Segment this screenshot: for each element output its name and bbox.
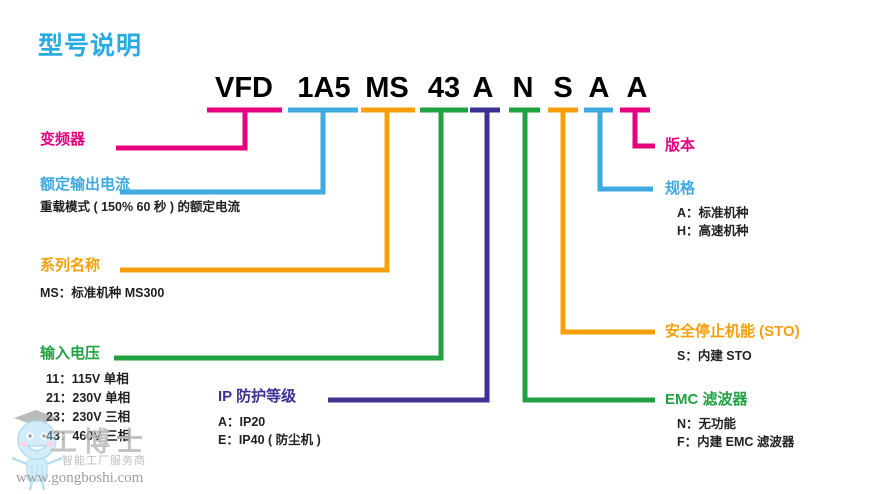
callout-rated-output-current: 额定输出电流 重载模式 ( 150% 60 秒 ) 的额定电流 [40, 175, 240, 216]
wire-input-voltage [114, 110, 441, 358]
code-segment-sto-s: S [549, 72, 577, 104]
wire-version [635, 110, 655, 146]
callout-spec-line-0: A：标准机种 [677, 204, 749, 222]
callout-sto-line-0: S：内建 STO [677, 347, 800, 365]
wire-inverter [116, 110, 245, 148]
wire-emc-filter [525, 110, 655, 400]
callout-sto-title: 安全停止机能 (STO) [665, 322, 800, 341]
wire-spec [600, 110, 653, 189]
callout-ip-rating-title: IP 防护等级 [218, 387, 321, 406]
callout-rated-output-current-title: 额定输出电流 [40, 175, 240, 194]
code-segment-vfd: VFD [205, 72, 283, 104]
callout-series-name: 系列名称 MS：标准机种 MS300 [40, 256, 164, 302]
code-segment-emc-n: N [509, 72, 537, 104]
callout-rated-output-current-line-0: 重载模式 ( 150% 60 秒 ) 的额定电流 [40, 198, 240, 216]
callout-version-title: 版本 [665, 136, 695, 155]
code-segment-43: 43 [420, 72, 468, 104]
callout-emc-filter-title: EMC 滤波器 [665, 390, 794, 409]
page-title: 型号说明 [38, 26, 142, 62]
code-segment-1a5: 1A5 [289, 72, 359, 104]
watermark: 工博士 智能工厂服务商 www.gongboshi.com [6, 404, 202, 492]
model-code-row: VFD 1A5 MS 43 A N S A A [0, 72, 872, 108]
watermark-tagline: 智能工厂服务商 [62, 452, 146, 468]
callout-sto: 安全停止机能 (STO) S：内建 STO [665, 322, 800, 365]
code-segment-ip-a: A [469, 72, 497, 104]
callout-input-voltage-line-0: 11：115V 单相 [46, 370, 130, 389]
callout-emc-filter-line-0: N：无功能 [677, 415, 794, 433]
callout-series-name-line-0: MS：标准机种 MS300 [40, 284, 164, 302]
callout-spec-title: 规格 [665, 179, 749, 198]
code-segment-ms: MS [360, 72, 414, 104]
callout-version: 版本 [665, 136, 695, 155]
callout-inverter: 变频器 [40, 130, 85, 149]
callout-ip-rating: IP 防护等级 A：IP20 E：IP40 ( 防尘机 ) [218, 387, 321, 449]
callout-ip-rating-line-0: A：IP20 [218, 413, 321, 431]
callout-spec-line-1: H：高速机种 [677, 222, 749, 240]
callout-inverter-title: 变频器 [40, 130, 85, 149]
code-segment-version-a: A [623, 72, 651, 104]
callout-series-name-title: 系列名称 [40, 256, 164, 275]
callout-spec: 规格 A：标准机种 H：高速机种 [665, 179, 749, 240]
watermark-url: www.gongboshi.com [16, 470, 143, 487]
model-number-explanation-diagram: 型号说明 VFD 1A5 MS 43 A N S A A [0, 0, 872, 494]
callout-emc-filter: EMC 滤波器 N：无功能 F：内建 EMC 滤波器 [665, 390, 794, 451]
wire-sto [563, 110, 655, 332]
wire-ip-rating [328, 110, 487, 400]
callout-emc-filter-line-1: F：内建 EMC 滤波器 [677, 433, 794, 451]
callout-ip-rating-line-1: E：IP40 ( 防尘机 ) [218, 431, 321, 449]
code-segment-spec-a: A [585, 72, 613, 104]
callout-input-voltage-title: 输入电压 [40, 344, 130, 363]
